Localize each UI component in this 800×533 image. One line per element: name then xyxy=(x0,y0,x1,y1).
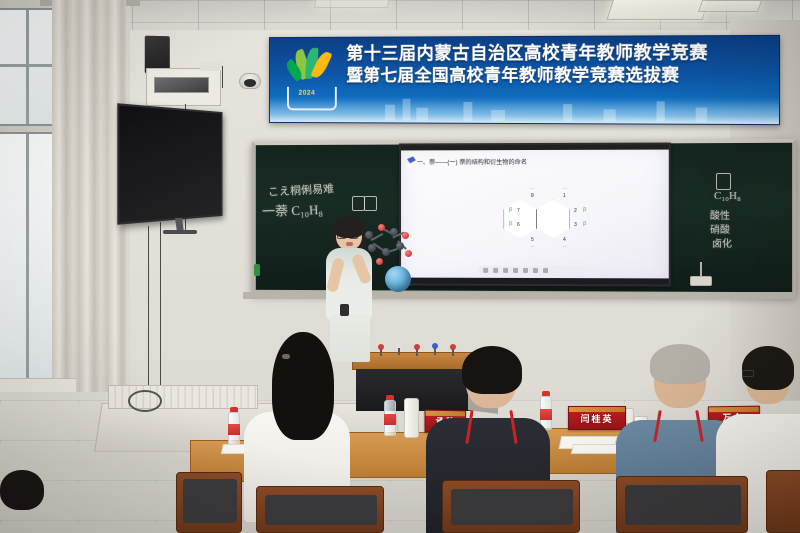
camera-lens-icon xyxy=(244,79,256,87)
chair[interactable] xyxy=(616,476,748,533)
bottle-cap xyxy=(386,395,394,400)
atom-carbon xyxy=(396,242,404,250)
placard-text: 闫桂英 xyxy=(580,412,613,425)
ceiling-projector xyxy=(690,276,712,286)
slide-bullet-icon xyxy=(407,156,416,163)
mouth xyxy=(346,242,353,246)
chalk-ring-right xyxy=(716,173,731,190)
presenter-badge xyxy=(340,304,349,316)
chair[interactable] xyxy=(766,470,800,533)
naphthalene-diagram: 1 2 3 4 5 6 7 8 ·· ·· ·· ·· β β β β xyxy=(495,189,581,251)
hair xyxy=(650,344,710,384)
eraser-icon[interactable] xyxy=(503,268,508,273)
screen-top-bezel xyxy=(401,145,669,151)
position-label: 6 xyxy=(517,222,520,228)
cable xyxy=(160,222,161,397)
atom-carbon xyxy=(390,228,398,236)
bottle-label xyxy=(384,414,396,425)
hair xyxy=(272,332,334,440)
camera-mount xyxy=(200,62,222,71)
chair[interactable] xyxy=(256,486,384,533)
bottle-label xyxy=(228,424,240,435)
chalk-text-right-1: C₁₀H₈ xyxy=(714,190,741,202)
chalk-text-right-3: 硝酸 xyxy=(710,221,730,236)
position-label: 8 xyxy=(531,193,534,199)
position-label: 4 xyxy=(563,237,566,243)
position-label: 3 xyxy=(574,222,577,228)
teacher-presenter xyxy=(316,218,386,363)
chalk-naphthalene-ring xyxy=(364,196,377,211)
substituent-mark: ·· xyxy=(563,244,566,250)
competition-logo-icon: 2024 xyxy=(283,48,340,113)
more-icon[interactable] xyxy=(543,268,548,273)
chalk-text-right-2: 酸性 xyxy=(710,207,730,222)
bottle-label xyxy=(540,409,552,420)
position-label: 5 xyxy=(531,237,534,243)
position-label: 7 xyxy=(517,208,520,214)
chalk-text-left-2: 一萘 C₁₀H₈ xyxy=(262,199,324,220)
chair[interactable] xyxy=(176,472,242,533)
ceiling-light xyxy=(606,0,709,20)
cable-bundle xyxy=(128,390,162,412)
atom-carbon xyxy=(368,244,376,252)
substituent-mark: ·· xyxy=(531,186,534,192)
monitor-base xyxy=(163,230,197,234)
menu-icon[interactable] xyxy=(533,268,538,273)
slide-title: 一、萘——(一) 萘的结构和衍生物的命名 xyxy=(417,157,527,166)
molecular-model[interactable] xyxy=(356,222,416,274)
score-sheets[interactable] xyxy=(571,444,621,454)
hair-clip xyxy=(282,354,290,359)
hair xyxy=(462,346,522,394)
atom-red xyxy=(376,258,383,265)
atom-red xyxy=(405,250,412,257)
wall-mounted-monitor[interactable] xyxy=(117,103,222,225)
substituent-mark: ·· xyxy=(531,244,534,250)
event-banner: 2024 第十三届内蒙古自治区高校青年教师教学竞赛 暨第七届全国高校青年教师教学… xyxy=(269,35,780,125)
control-box-window xyxy=(154,77,209,93)
window-upper xyxy=(0,8,58,126)
lower-garment xyxy=(330,314,370,362)
glasses-icon xyxy=(742,370,754,377)
ceiling-light xyxy=(314,0,390,8)
slide-icon[interactable] xyxy=(523,268,528,273)
position-label: 2 xyxy=(574,208,577,214)
atom-carbon xyxy=(365,231,373,239)
position-label: 1 xyxy=(563,193,566,199)
pointer-icon[interactable] xyxy=(513,268,518,273)
clip-microphone xyxy=(254,264,260,276)
atom-red xyxy=(402,232,409,239)
benzene-ring-right xyxy=(536,199,570,239)
projection-screen[interactable]: 一、萘——(一) 萘的结构和衍生物的命名 1 2 3 4 5 6 7 8 ·· … xyxy=(399,143,671,287)
thermos-flask[interactable] xyxy=(404,398,419,438)
presentation-toolbar[interactable] xyxy=(478,266,590,275)
cable xyxy=(148,226,149,396)
screen-bottom-bezel xyxy=(401,278,669,285)
banner-skyline-graphic xyxy=(270,97,779,125)
pen-icon[interactable] xyxy=(483,268,488,273)
ceiling-light xyxy=(698,0,762,12)
greek-label: β xyxy=(509,221,512,227)
window-lower xyxy=(0,132,58,382)
atom-carbon xyxy=(382,248,390,256)
bottle-cap xyxy=(542,391,550,396)
substituent-mark: ·· xyxy=(563,186,566,192)
chair[interactable] xyxy=(442,480,580,533)
curtain[interactable] xyxy=(52,0,126,400)
greek-label: β xyxy=(509,207,512,213)
greek-label: β xyxy=(583,207,586,213)
bottle-cap xyxy=(230,407,238,412)
greek-label: β xyxy=(583,221,586,227)
cable xyxy=(222,66,223,88)
banner-title-line-1: 第十三届内蒙古自治区高校青年教师教学竞赛 xyxy=(346,42,772,65)
classroom-scene: 2024 第十三届内蒙古自治区高校青年教师教学竞赛 暨第七届全国高校青年教师教学… xyxy=(0,0,800,533)
hair xyxy=(742,346,794,390)
chalk-text-right-4: 卤化 xyxy=(712,235,732,250)
atom-red xyxy=(378,224,385,231)
name-placard: 闫桂英 xyxy=(568,406,626,430)
banner-title-line-2: 暨第七届全国高校青年教师教学竞赛选拔赛 xyxy=(346,64,772,86)
blue-sphere-model xyxy=(385,266,411,292)
logo-year: 2024 xyxy=(298,90,315,97)
benzene-ring-left xyxy=(503,199,537,239)
highlighter-icon[interactable] xyxy=(493,268,498,273)
